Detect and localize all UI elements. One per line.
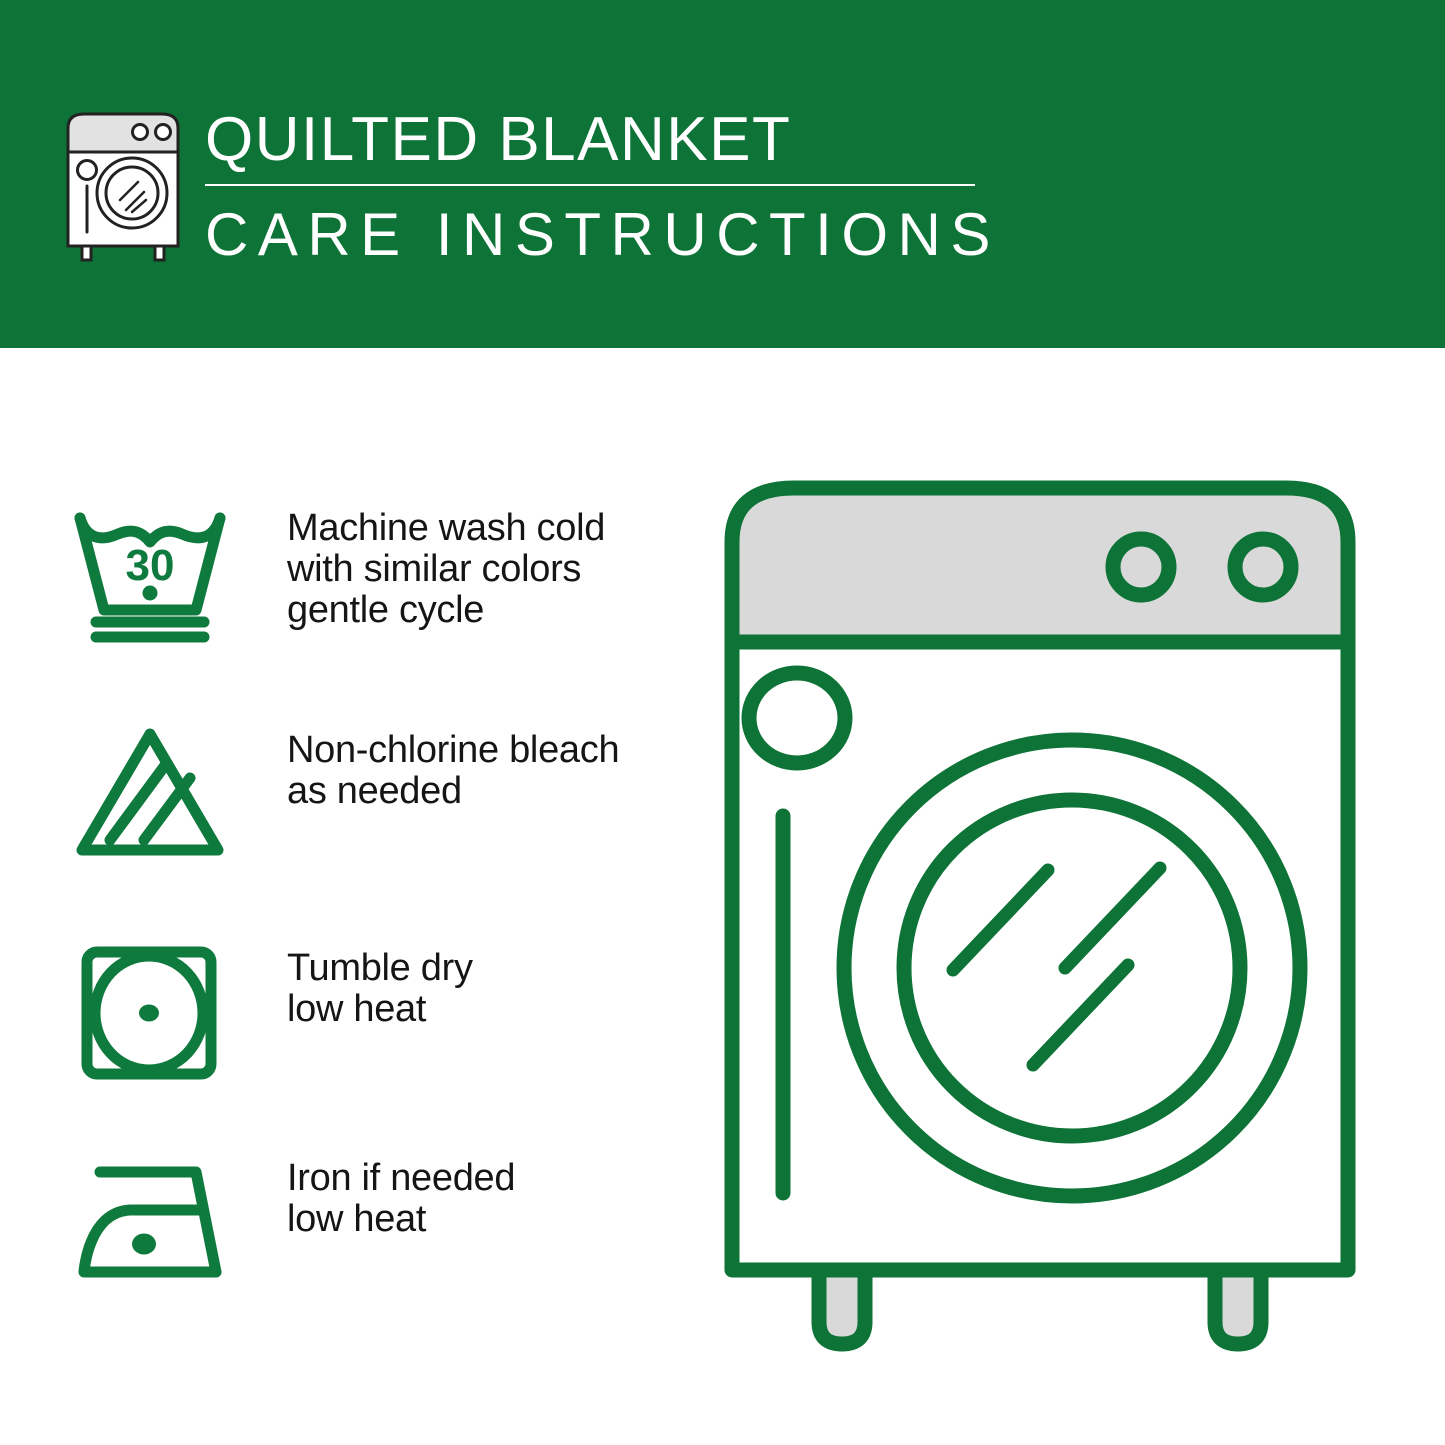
control-panel bbox=[732, 488, 1348, 642]
title-divider bbox=[205, 184, 975, 186]
detergent-dial bbox=[749, 673, 845, 763]
leg-right bbox=[1215, 1270, 1261, 1344]
care-label-tumble-dry: Tumble dry low heat bbox=[287, 938, 473, 1030]
care-label-line: low heat bbox=[287, 1199, 515, 1240]
front-load-washing-machine-illustration bbox=[720, 470, 1360, 1370]
care-label-machine-wash: Machine wash cold with similar colors ge… bbox=[287, 498, 605, 631]
iron-low-heat-icon bbox=[70, 1148, 235, 1298]
care-label-line: Machine wash cold bbox=[287, 508, 605, 549]
header-band: QUILTED BLANKET CARE INSTRUCTIONS bbox=[0, 0, 1445, 348]
header-text-block: QUILTED BLANKET CARE INSTRUCTIONS bbox=[205, 104, 995, 270]
leg-left bbox=[819, 1270, 865, 1344]
care-row-iron: Iron if needed low heat bbox=[70, 1148, 690, 1298]
wash-tub-30-gentle-icon: 30 bbox=[70, 498, 235, 648]
care-label-line: Non-chlorine bleach bbox=[287, 730, 619, 771]
page-title: QUILTED BLANKET bbox=[205, 104, 995, 176]
care-label-line: as needed bbox=[287, 771, 619, 812]
care-label-line: with similar colors bbox=[287, 549, 605, 590]
drum-lines bbox=[953, 868, 1160, 1065]
care-label-line: gentle cycle bbox=[287, 590, 605, 631]
tumble-dry-low-icon bbox=[70, 938, 235, 1088]
care-instruction-list: 30 Machine wash cold with similar colors… bbox=[0, 348, 700, 1445]
care-row-machine-wash: 30 Machine wash cold with similar colors… bbox=[70, 498, 690, 648]
care-label-bleach: Non-chlorine bleach as needed bbox=[287, 720, 619, 812]
care-label-iron: Iron if needed low heat bbox=[287, 1148, 515, 1240]
wash-temperature-value: 30 bbox=[126, 541, 175, 590]
care-label-line: low heat bbox=[287, 989, 473, 1030]
care-row-bleach: Non-chlorine bleach as needed bbox=[70, 720, 690, 870]
care-row-tumble-dry: Tumble dry low heat bbox=[70, 938, 690, 1088]
care-instructions-infographic: QUILTED BLANKET CARE INSTRUCTIONS bbox=[0, 0, 1445, 1445]
non-chlorine-bleach-triangle-icon bbox=[70, 720, 235, 870]
care-label-line: Iron if needed bbox=[287, 1158, 515, 1199]
washing-machine-icon bbox=[60, 100, 192, 262]
page-subtitle: CARE INSTRUCTIONS bbox=[205, 200, 995, 270]
care-label-line: Tumble dry bbox=[287, 948, 473, 989]
